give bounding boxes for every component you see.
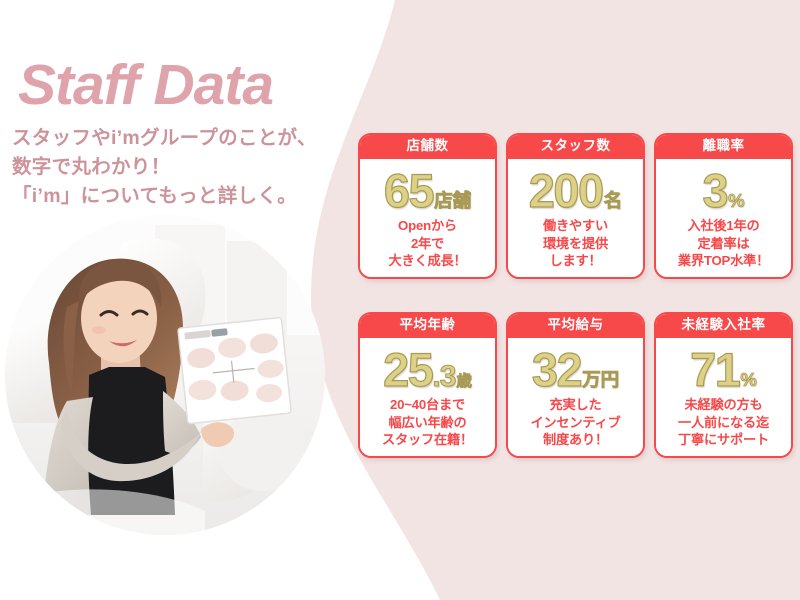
stat-value: 3 % xyxy=(660,164,787,216)
stat-card-turnover-rate[interactable]: 離職率 3 % 入社後1年の 定着率は 業界TOP水準！ xyxy=(654,133,793,279)
stat-card-row-1: 店舗数 65 店舗 Openから 2年で 大きく成長！ スタッフ数 200 名 xyxy=(358,133,794,279)
stat-card-staff-count[interactable]: スタッフ数 200 名 働きやすい 環境を提供 します！ xyxy=(506,133,645,279)
stat-unit: % xyxy=(728,192,744,211)
stat-description: 入社後1年の 定着率は 業界TOP水準！ xyxy=(660,217,787,270)
staff-data-infographic: Staff Data スタッフやi’mグループのことが、 数字で丸わかり！ 「i… xyxy=(0,0,800,600)
stat-card-heading: 平均年齢 xyxy=(360,314,495,338)
stat-card-inexperienced-hire-rate[interactable]: 未経験入社率 71 % 未経験の方も 一人前になる迄 丁寧にサポート xyxy=(654,312,793,458)
staff-photo-illustration xyxy=(5,215,325,535)
stat-description: 働きやすい 環境を提供 します！ xyxy=(512,217,639,270)
stat-value: 25 .3 歳 xyxy=(364,343,491,395)
stat-card-heading: 未経験入社率 xyxy=(656,314,791,338)
stat-value: 71 % xyxy=(660,343,787,395)
staff-photo xyxy=(5,215,325,535)
stat-value: 200 名 xyxy=(512,164,639,216)
stat-card-body: 3 % 入社後1年の 定着率は 業界TOP水準！ xyxy=(656,159,791,277)
stat-number: 65 xyxy=(384,167,433,214)
stat-value: 32 万円 xyxy=(512,343,639,395)
stat-number: 3 xyxy=(702,167,727,214)
stat-card-average-age[interactable]: 平均年齢 25 .3 歳 20~40台まで 幅広い年齢の スタッフ在籍！ xyxy=(358,312,497,458)
stat-unit: 店舗 xyxy=(434,192,471,211)
stat-card-average-salary[interactable]: 平均給与 32 万円 充実した インセンティブ 制度あり！ xyxy=(506,312,645,458)
stat-unit: 名 xyxy=(604,192,623,211)
stat-card-heading: 離職率 xyxy=(656,135,791,159)
page-subtitle: スタッフやi’mグループのことが、 数字で丸わかり！ 「i’m」についてもっと詳… xyxy=(12,124,317,211)
stat-card-heading: 店舗数 xyxy=(360,135,495,159)
stat-unit: 歳 xyxy=(456,374,472,390)
stat-card-heading: スタッフ数 xyxy=(508,135,643,159)
page-title: Staff Data xyxy=(18,52,273,118)
stat-description: 未経験の方も 一人前になる迄 丁寧にサポート xyxy=(660,396,787,449)
stat-value: 65 店舗 xyxy=(364,164,491,216)
stat-number: 25 xyxy=(383,346,432,393)
stat-number: 200 xyxy=(529,167,603,214)
stat-number: 71 xyxy=(690,346,739,393)
stat-unit: 万円 xyxy=(582,371,619,390)
stat-card-body: 32 万円 充実した インセンティブ 制度あり！ xyxy=(508,338,643,456)
stat-card-body: 25 .3 歳 20~40台まで 幅広い年齢の スタッフ在籍！ xyxy=(360,338,495,456)
stat-card-body: 200 名 働きやすい 環境を提供 します！ xyxy=(508,159,643,277)
stat-number: 32 xyxy=(532,346,581,393)
stat-unit: % xyxy=(740,371,756,390)
stat-card-body: 71 % 未経験の方も 一人前になる迄 丁寧にサポート xyxy=(656,338,791,456)
stat-card-heading: 平均給与 xyxy=(508,314,643,338)
stat-description: 20~40台まで 幅広い年齢の スタッフ在籍！ xyxy=(364,396,491,449)
stat-card-row-2: 平均年齢 25 .3 歳 20~40台まで 幅広い年齢の スタッフ在籍！ 平均給… xyxy=(358,312,794,458)
stat-card-body: 65 店舗 Openから 2年で 大きく成長！ xyxy=(360,159,495,277)
stat-description: Openから 2年で 大きく成長！ xyxy=(364,217,491,270)
stat-card-store-count[interactable]: 店舗数 65 店舗 Openから 2年で 大きく成長！ xyxy=(358,133,497,279)
stat-description: 充実した インセンティブ 制度あり！ xyxy=(512,396,639,449)
stat-card-grid: 店舗数 65 店舗 Openから 2年で 大きく成長！ スタッフ数 200 名 xyxy=(358,133,794,458)
stat-decimal: .3 xyxy=(432,362,455,392)
